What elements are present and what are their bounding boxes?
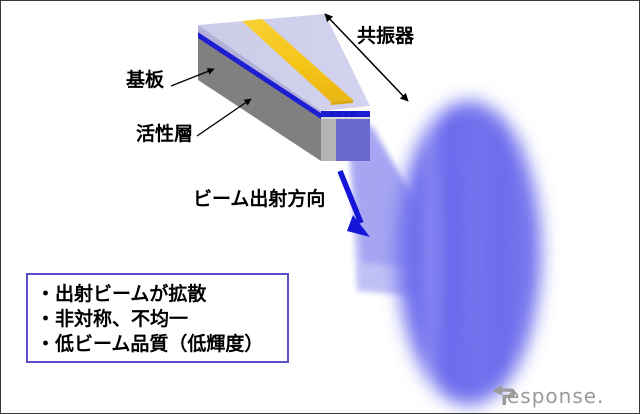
callout-bullet-1: ・出射ビームが拡散 (36, 282, 287, 307)
watermark-text: esponse. (507, 384, 604, 408)
far-field-beam-spot (397, 101, 541, 405)
response-watermark: esponse. (488, 382, 628, 408)
facet-face (336, 118, 370, 161)
callout-bullet-2: ・非対称、不均一 (36, 307, 287, 332)
drawbacks-callout-box: ・出射ビームが拡散 ・非対称、不均一 ・低ビーム品質（低輝度） (26, 273, 289, 363)
laser-diode-block (198, 14, 370, 161)
label-beam-direction: ビーム出射方向 (193, 190, 325, 209)
label-substrate: 基板 (126, 71, 164, 90)
figure-canvas: 基板 活性層 共振器 ビーム出射方向 ・出射ビームが拡散 ・非対称、不均一 ・低… (0, 0, 640, 414)
active-layer-leader-arrow (197, 99, 251, 136)
label-active-layer: 活性層 (136, 125, 193, 144)
callout-bullet-3: ・低ビーム品質（低輝度） (36, 332, 287, 357)
label-resonator: 共振器 (357, 27, 414, 46)
